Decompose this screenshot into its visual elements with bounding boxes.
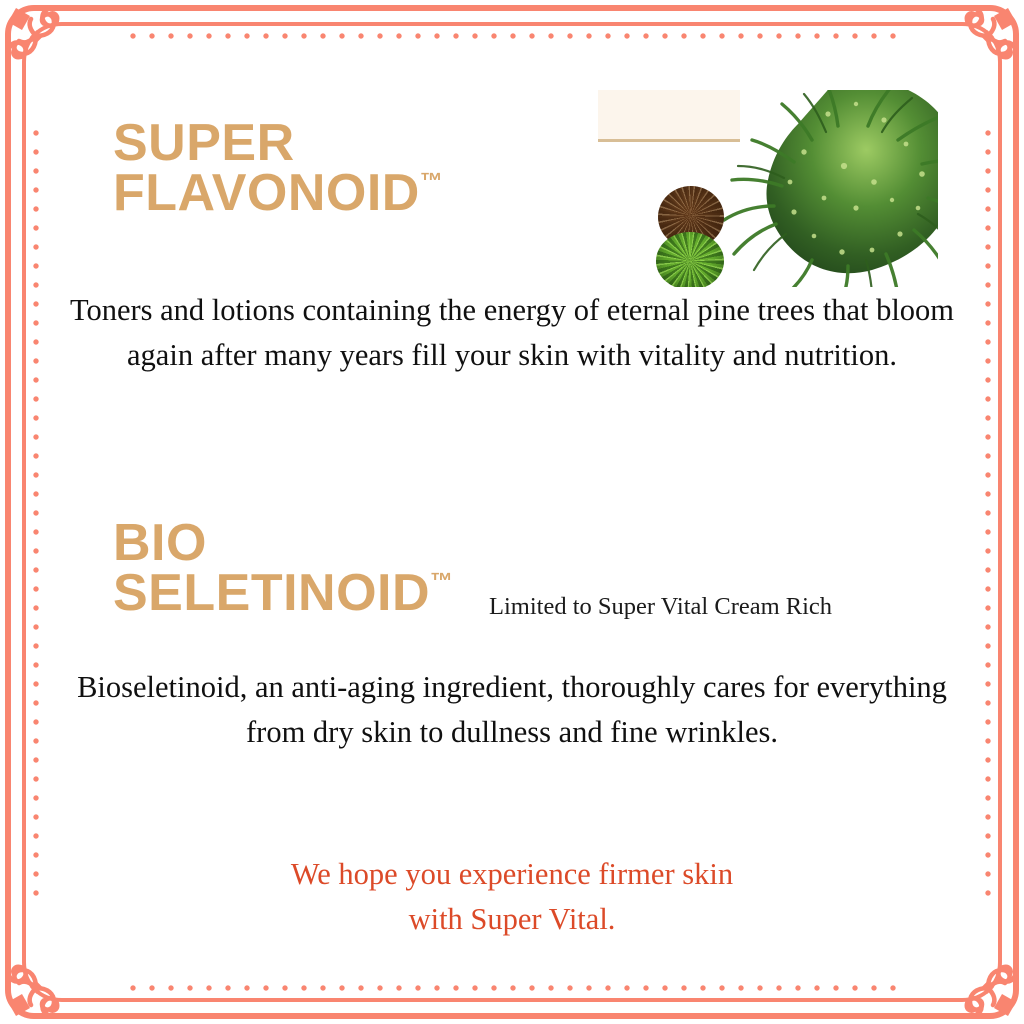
inset-fresh-plant bbox=[656, 232, 724, 287]
heading-line-2-text: FLAVONOID bbox=[113, 164, 420, 222]
paragraph-super-flavonoid: Toners and lotions containing the energy… bbox=[50, 288, 974, 377]
promo-card: SUPER FLAVONOID™ Toners and lotions cont… bbox=[0, 0, 1024, 1024]
card-content: SUPER FLAVONOID™ Toners and lotions cont… bbox=[40, 40, 984, 984]
limited-availability-note: Limited to Super Vital Cream Rich bbox=[489, 593, 832, 621]
heading-line-2-text: SELETINOID bbox=[113, 564, 430, 622]
heading-super-flavonoid: SUPER FLAVONOID™ bbox=[113, 118, 443, 219]
paragraph-bio-seletinoid: Bioseletinoid, an anti-aging ingredient,… bbox=[50, 665, 974, 754]
closing-line-2: with Super Vital. bbox=[50, 897, 974, 942]
heading-bio-seletinoid: BIO SELETINOID™ bbox=[113, 518, 453, 619]
frame-dots-bottom bbox=[33, 985, 991, 991]
frame-dots-left bbox=[33, 33, 39, 991]
heading-line-1: BIO bbox=[113, 518, 453, 568]
closing-message: We hope you experience firmer skin with … bbox=[50, 852, 974, 941]
frame-dots-top bbox=[33, 33, 991, 39]
heading-line-2: FLAVONOID™ bbox=[113, 168, 443, 218]
heading-line-2: SELETINOID™ bbox=[113, 568, 453, 618]
frame-dots-right bbox=[985, 33, 991, 991]
heading-line-1: SUPER bbox=[113, 118, 443, 168]
resurrection-plant-photo bbox=[598, 90, 938, 287]
trademark-symbol: ™ bbox=[420, 168, 443, 194]
pine-foliage-illustration bbox=[716, 90, 938, 287]
closing-line-1: We hope you experience firmer skin bbox=[50, 852, 974, 897]
trademark-symbol: ™ bbox=[430, 568, 453, 594]
